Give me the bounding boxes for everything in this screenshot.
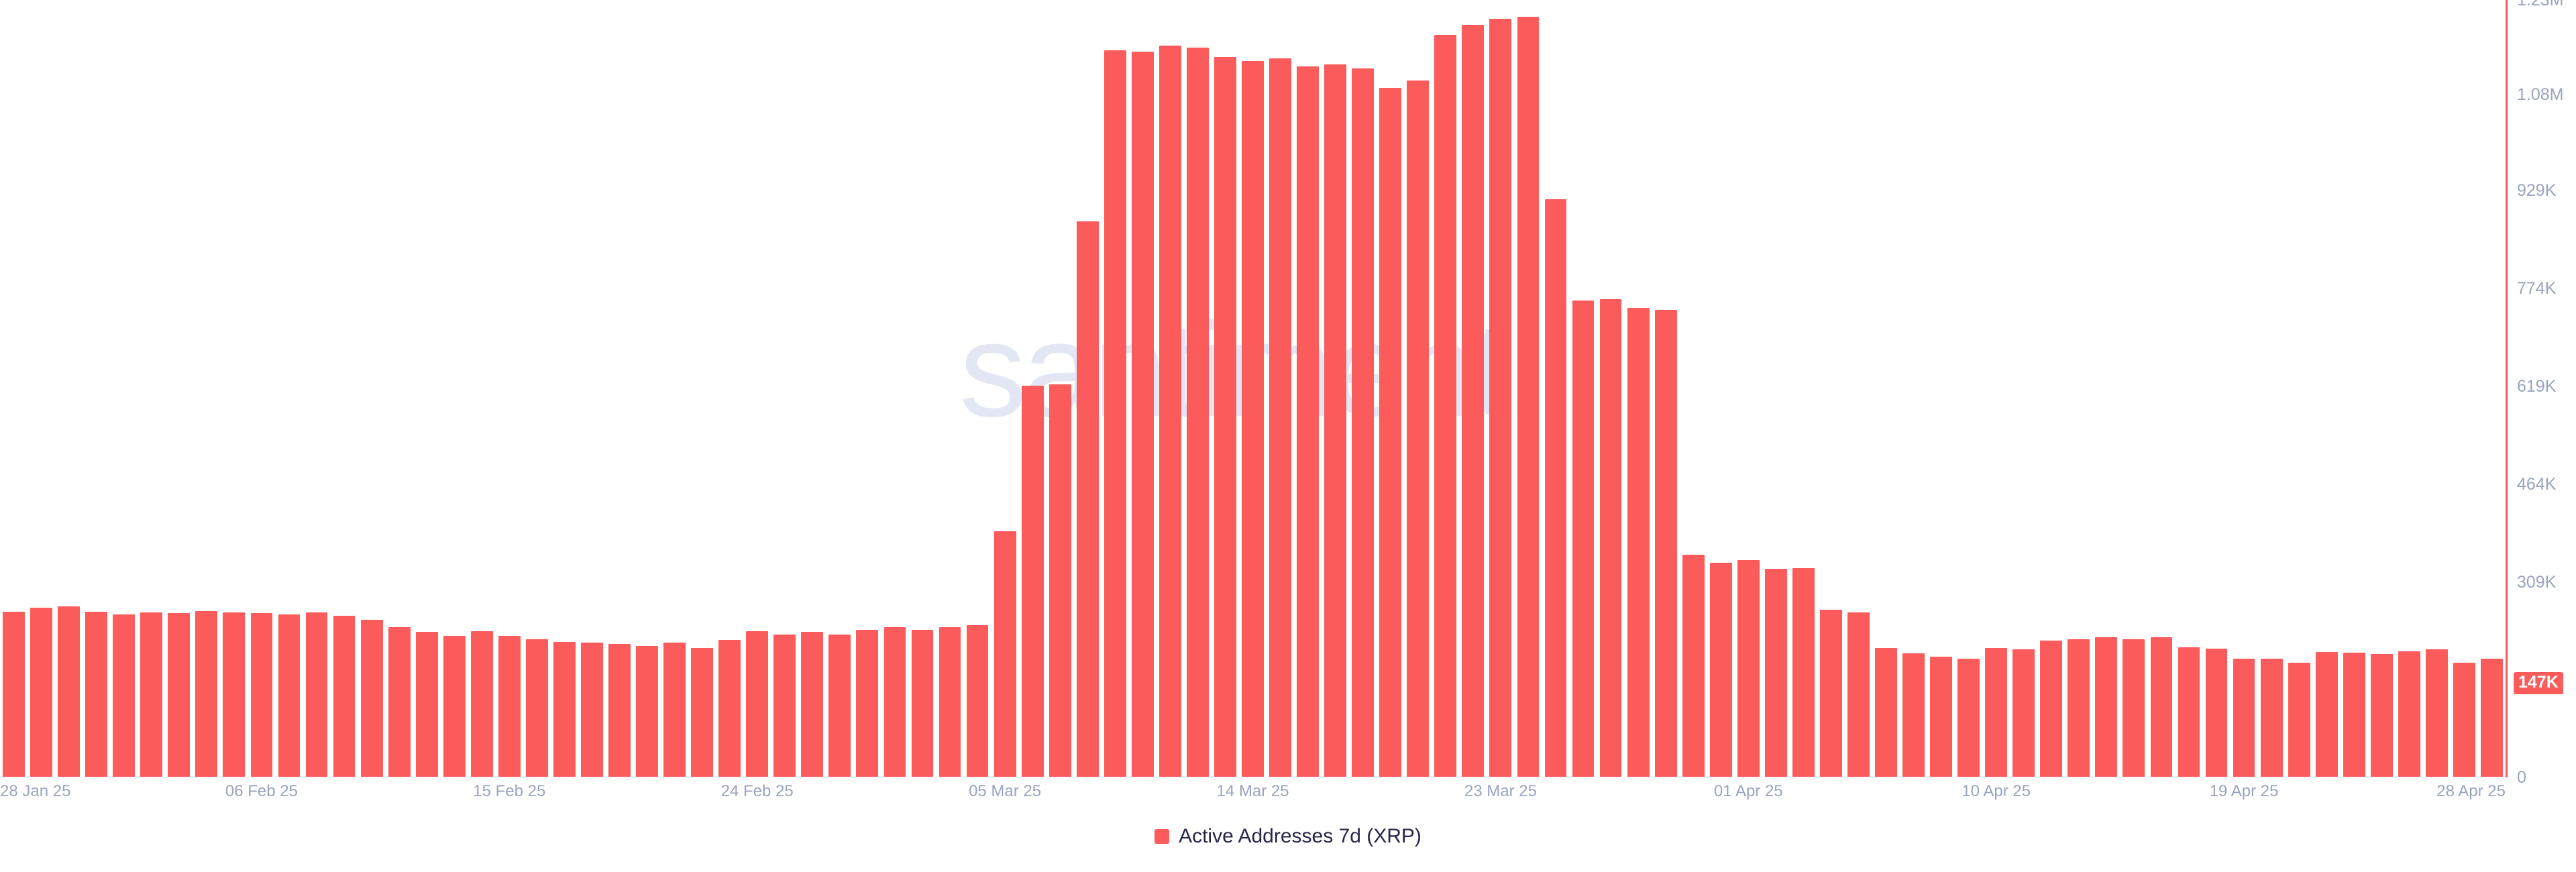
bar[interactable] xyxy=(2040,641,2062,777)
legend-item-active-addresses-7d[interactable]: Active Addresses 7d (XRP) xyxy=(1155,826,1421,847)
bar[interactable] xyxy=(195,611,217,777)
bar[interactable] xyxy=(1517,17,1540,777)
bar[interactable] xyxy=(1159,46,1181,777)
bar[interactable] xyxy=(1765,569,1787,777)
bar[interactable] xyxy=(2481,659,2503,777)
bar[interactable] xyxy=(691,648,713,777)
x-axis-tick-8: 10 Apr 25 xyxy=(1962,783,2031,800)
bar[interactable] xyxy=(471,631,493,777)
y-axis-tick-2: 929K xyxy=(2517,182,2556,199)
x-axis-tick-4: 05 Mar 25 xyxy=(969,783,1041,800)
bar[interactable] xyxy=(2398,651,2420,777)
bar[interactable] xyxy=(608,644,631,777)
bar[interactable] xyxy=(2233,659,2255,777)
bar[interactable] xyxy=(140,612,162,777)
y-axis-tick-4: 619K xyxy=(2517,378,2556,395)
bar[interactable] xyxy=(1600,299,1622,777)
y-axis-tick-6: 309K xyxy=(2517,574,2556,591)
bar[interactable] xyxy=(2178,647,2200,777)
y-axis-tick-8: 0 xyxy=(2517,769,2526,786)
legend-color-swatch-icon xyxy=(1155,829,1169,844)
bar[interactable] xyxy=(1847,612,1870,777)
bar[interactable] xyxy=(2453,663,2475,777)
bar[interactable] xyxy=(1352,68,1374,777)
bar[interactable] xyxy=(718,640,741,777)
bar[interactable] xyxy=(967,625,989,777)
x-axis-tick-3: 24 Feb 25 xyxy=(721,783,794,800)
bar[interactable] xyxy=(636,646,658,777)
bar[interactable] xyxy=(1489,19,1511,777)
bar[interactable] xyxy=(828,635,851,777)
bar[interactable] xyxy=(1737,560,1760,777)
legend-item-label: Active Addresses 7d (XRP) xyxy=(1179,826,1421,847)
chart-legend: Active Addresses 7d (XRP) xyxy=(0,826,2576,847)
bar[interactable] xyxy=(1132,52,1154,777)
bar[interactable] xyxy=(1462,25,1484,777)
bar[interactable] xyxy=(801,632,823,777)
bar[interactable] xyxy=(1049,384,1071,777)
x-axis-tick-2: 15 Feb 25 xyxy=(473,783,545,800)
bar[interactable] xyxy=(1682,555,1705,777)
bar-series-active-addresses-7d xyxy=(0,0,2506,777)
bar[interactable] xyxy=(1214,57,1236,777)
bar[interactable] xyxy=(2123,639,2145,777)
bar[interactable] xyxy=(1930,657,1952,777)
bar[interactable] xyxy=(2068,639,2090,777)
bar[interactable] xyxy=(168,613,190,777)
bar[interactable] xyxy=(443,636,466,777)
y-axis-tick-1: 1.08M xyxy=(2517,87,2563,103)
x-axis-tick-10: 28 Apr 25 xyxy=(2436,783,2506,800)
bar[interactable] xyxy=(2261,659,2283,777)
bar[interactable] xyxy=(912,630,934,777)
bar[interactable] xyxy=(1434,35,1456,777)
bar[interactable] xyxy=(223,612,245,777)
bar[interactable] xyxy=(416,632,438,777)
bar[interactable] xyxy=(1792,568,1815,777)
bar[interactable] xyxy=(1022,386,1044,777)
x-axis-tick-6: 23 Mar 25 xyxy=(1464,783,1537,800)
bar[interactable] xyxy=(746,631,768,777)
plot-area xyxy=(0,0,2506,777)
bar[interactable] xyxy=(856,630,878,777)
bar[interactable] xyxy=(1957,659,1980,777)
bar[interactable] xyxy=(2206,649,2228,777)
bar[interactable] xyxy=(1324,64,1346,777)
y-axis-tick-0: 1.23M xyxy=(2517,0,2563,9)
chart-screenshot: santiment. 1.23M1.08M929K774K619K464K309… xyxy=(0,0,2576,872)
x-axis-tick-0: 28 Jan 25 xyxy=(0,783,70,800)
bar[interactable] xyxy=(1269,58,1291,777)
bar[interactable] xyxy=(553,642,576,777)
bar[interactable] xyxy=(2426,649,2448,777)
x-axis-tick-1: 06 Feb 25 xyxy=(225,783,298,800)
bar[interactable] xyxy=(1407,80,1429,777)
bar[interactable] xyxy=(1187,48,1209,777)
bar[interactable] xyxy=(1572,301,1595,777)
bar[interactable] xyxy=(1820,610,1842,777)
bar[interactable] xyxy=(3,612,25,777)
bar[interactable] xyxy=(1379,88,1401,777)
bar[interactable] xyxy=(58,606,80,777)
bar[interactable] xyxy=(251,613,273,777)
x-axis-tick-9: 19 Apr 25 xyxy=(2210,783,2279,800)
bar[interactable] xyxy=(498,636,521,777)
bar[interactable] xyxy=(113,614,135,777)
bar[interactable] xyxy=(361,620,383,777)
y-axis-tick-5: 464K xyxy=(2517,476,2556,493)
bar[interactable] xyxy=(1077,221,1099,777)
bar[interactable] xyxy=(1104,50,1126,777)
x-axis-tick-7: 01 Apr 25 xyxy=(1714,783,1783,800)
bar[interactable] xyxy=(388,627,411,777)
x-axis-tick-5: 14 Mar 25 xyxy=(1216,783,1289,800)
bar[interactable] xyxy=(1297,66,1319,777)
x-axis-baseline xyxy=(0,777,2506,777)
bar[interactable] xyxy=(306,612,328,777)
bar[interactable] xyxy=(2095,637,2117,777)
bar[interactable] xyxy=(2012,649,2035,777)
bar[interactable] xyxy=(2151,637,2173,777)
bar[interactable] xyxy=(278,614,301,777)
bar[interactable] xyxy=(884,627,906,777)
bar[interactable] xyxy=(1655,310,1677,777)
bar[interactable] xyxy=(1242,61,1264,777)
bar[interactable] xyxy=(581,643,603,777)
bar[interactable] xyxy=(994,531,1016,777)
bar[interactable] xyxy=(2371,654,2393,777)
y-axis-line xyxy=(2506,0,2508,777)
current-value-badge: 147K xyxy=(2514,672,2563,694)
bar[interactable] xyxy=(2288,663,2310,777)
bar[interactable] xyxy=(1985,648,2007,777)
bar[interactable] xyxy=(333,616,356,777)
bar[interactable] xyxy=(1627,308,1650,777)
bar[interactable] xyxy=(663,643,686,777)
bar[interactable] xyxy=(773,635,796,777)
bar[interactable] xyxy=(526,639,548,777)
bar[interactable] xyxy=(85,612,107,777)
bar[interactable] xyxy=(1875,648,1897,777)
bar[interactable] xyxy=(30,608,52,777)
y-axis-tick-3: 774K xyxy=(2517,280,2556,297)
bar[interactable] xyxy=(939,627,961,777)
bar[interactable] xyxy=(1710,563,1732,777)
bar[interactable] xyxy=(2316,652,2338,777)
bar[interactable] xyxy=(2343,653,2365,777)
bar[interactable] xyxy=(1902,653,1925,777)
bar[interactable] xyxy=(1545,199,1567,777)
